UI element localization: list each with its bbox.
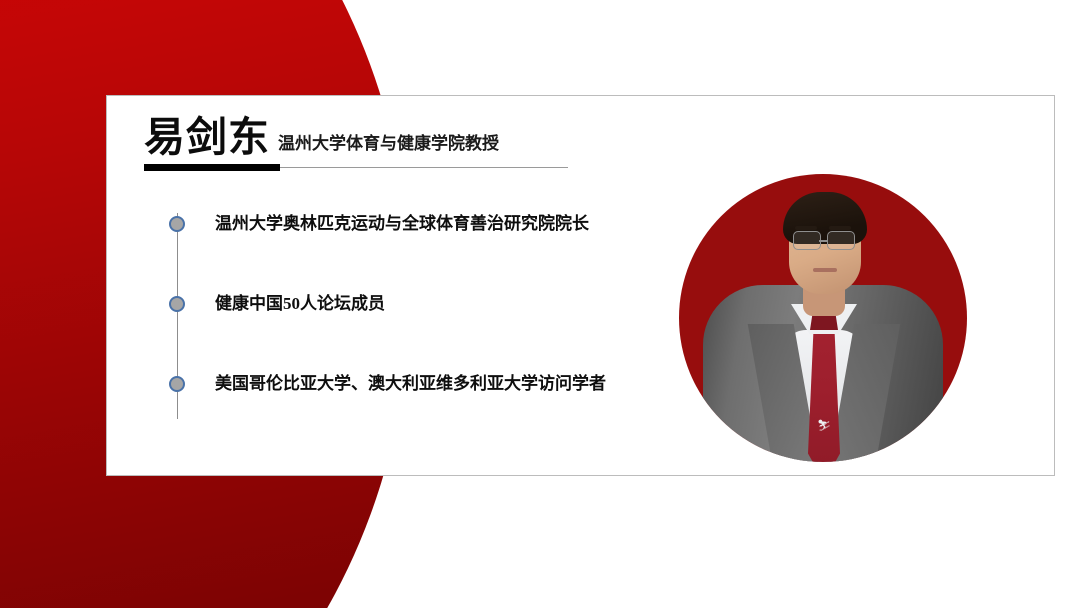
person-title: 温州大学体育与健康学院教授 [278, 133, 499, 155]
name-row: 易剑东 温州大学体育与健康学院教授 [144, 113, 614, 161]
portrait-eyebrow-right [829, 226, 851, 230]
credentials-timeline: 温州大学奥林匹克运动与全球体育善治研究院院长 健康中国50人论坛成员 美国哥伦比… [169, 213, 729, 423]
heading-block: 易剑东 温州大学体育与健康学院教授 [144, 113, 614, 183]
portrait-mouth [813, 268, 837, 272]
credential-text: 美国哥伦比亚大学、澳大利亚维多利亚大学访问学者 [215, 372, 606, 396]
glasses-lens-right-icon [827, 231, 855, 250]
glasses-lens-left-icon [793, 231, 821, 250]
credential-text: 温州大学奥林匹克运动与全球体育善治研究院院长 [215, 212, 589, 236]
person-name: 易剑东 [144, 113, 270, 161]
timeline-dot-icon [169, 296, 185, 312]
glasses-bridge-icon [819, 240, 827, 242]
portrait-eyebrow-left [795, 226, 817, 230]
slide-canvas: 易剑东 温州大学体育与健康学院教授 温州大学奥林匹克运动与全球体育善治研究院院长… [0, 0, 1080, 608]
credential-text: 健康中国50人论坛成员 [215, 292, 385, 316]
heading-rule-thin [280, 167, 568, 168]
lapel-pin-icon: ⛷ [816, 418, 832, 434]
timeline-dot-icon [169, 216, 185, 232]
heading-rule-thick [144, 164, 280, 171]
heading-rule [144, 164, 576, 171]
timeline-dot-icon [169, 376, 185, 392]
portrait: ⛷ [679, 52, 967, 462]
